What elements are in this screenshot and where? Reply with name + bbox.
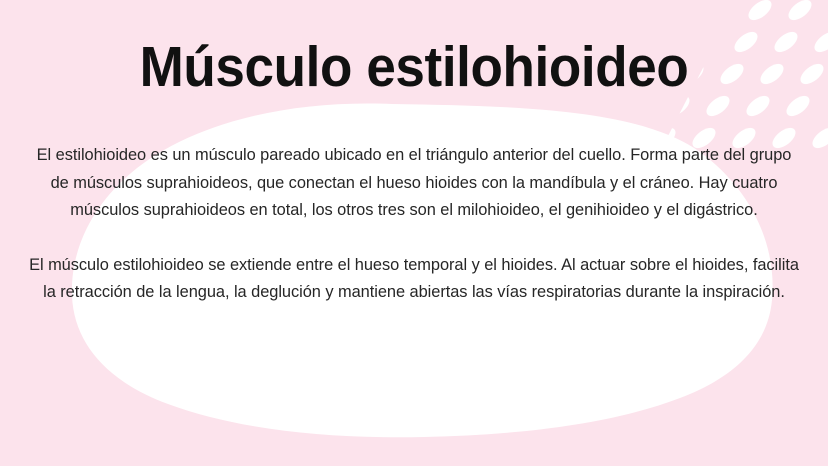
slide-content: Músculo estilohioideo El estilohioideo e… bbox=[0, 0, 828, 466]
body-paragraph-1: El estilohioideo es un músculo pareado u… bbox=[26, 142, 802, 225]
slide-canvas: Músculo estilohioideo El estilohioideo e… bbox=[0, 0, 828, 466]
page-title: Músculo estilohioideo bbox=[29, 34, 799, 101]
body-text-block: El estilohioideo es un músculo pareado u… bbox=[26, 142, 802, 307]
body-paragraph-2: El músculo estilohioideo se extiende ent… bbox=[26, 252, 802, 307]
